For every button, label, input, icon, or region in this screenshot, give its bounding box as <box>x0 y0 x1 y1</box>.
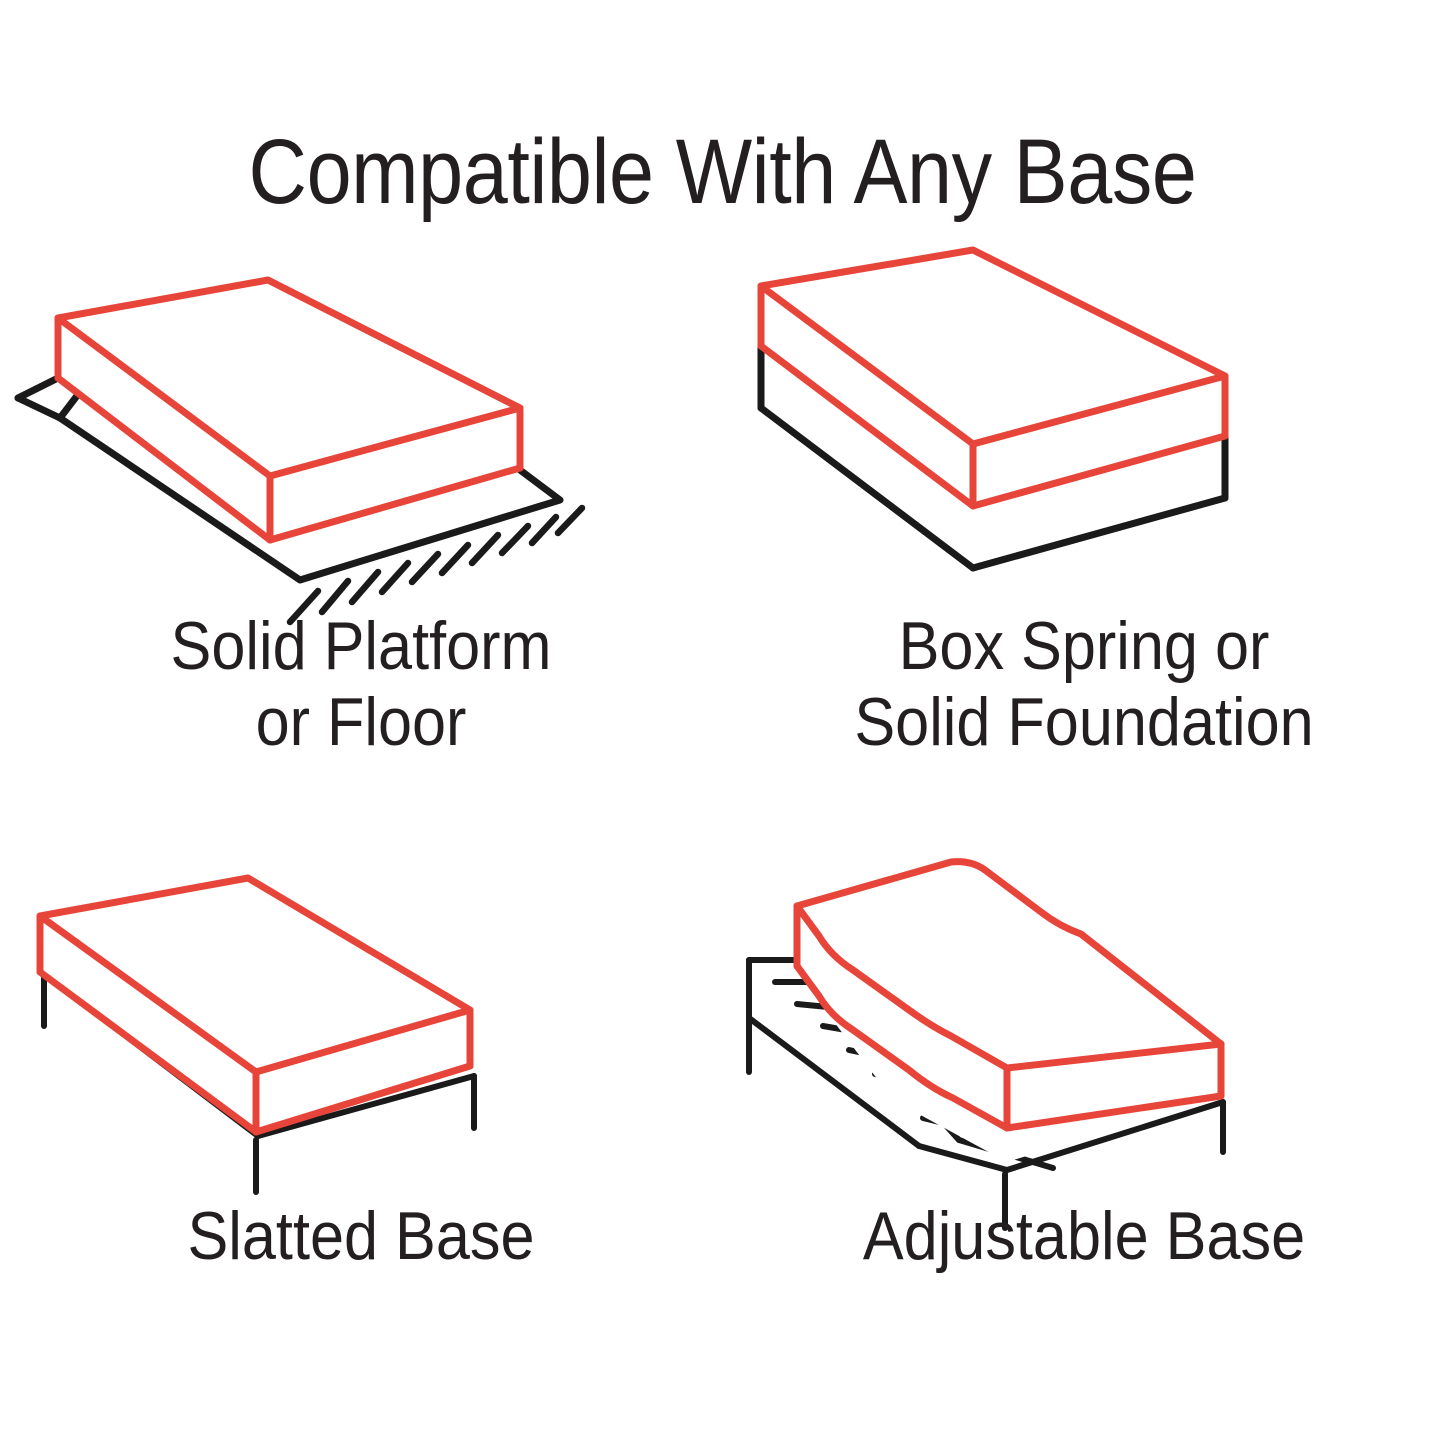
mattress-adjustable-base <box>797 862 1221 1162</box>
base-type-card-solid-platform: Solid Platform or Floor <box>0 250 722 840</box>
base-type-grid: Solid Platform or Floor <box>0 250 1445 1430</box>
page-title: Compatible With Any Base <box>87 126 1359 218</box>
base-type-label-box-spring: Box Spring or Solid Foundation <box>759 608 1409 760</box>
base-type-label-adjustable-base: Adjustable Base <box>759 1198 1409 1274</box>
base-type-card-slatted-base: Slatted Base <box>0 840 722 1430</box>
base-type-label-solid-platform: Solid Platform or Floor <box>36 608 686 760</box>
base-type-card-adjustable-base: Adjustable Base <box>723 840 1445 1430</box>
illustration-solid-platform-or-floor <box>0 250 722 610</box>
illustration-adjustable-base <box>723 840 1445 1200</box>
infographic-page: Compatible With Any Base <box>0 0 1445 1445</box>
mattress-solid-platform <box>58 280 520 540</box>
illustration-slatted-base <box>0 840 722 1200</box>
illustration-box-spring-or-solid-foundation <box>723 250 1445 610</box>
base-type-label-slatted-base: Slatted Base <box>36 1198 686 1274</box>
base-type-card-box-spring: Box Spring or Solid Foundation <box>723 250 1445 840</box>
